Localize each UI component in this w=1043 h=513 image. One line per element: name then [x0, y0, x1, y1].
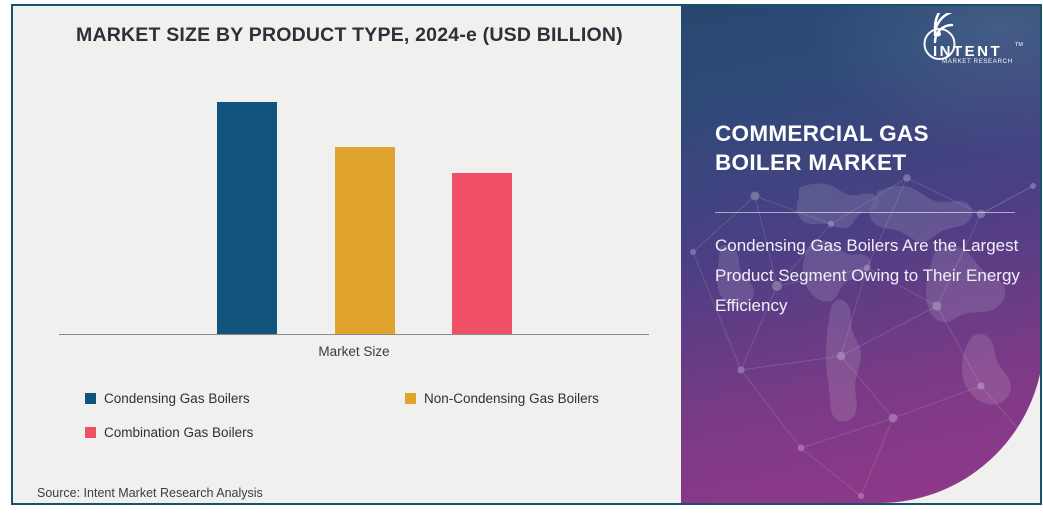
legend-label: Condensing Gas Boilers	[104, 391, 250, 406]
panel-title: COMMERCIAL GAS BOILER MARKET	[715, 119, 1015, 177]
panel-divider	[715, 212, 1015, 213]
source-note: Source: Intent Market Research Analysis	[37, 486, 263, 500]
infographic-canvas: MARKET SIZE BY PRODUCT TYPE, 2024-e (USD…	[0, 0, 1043, 513]
panel-subtitle: Condensing Gas Boilers Are the Largest P…	[715, 231, 1027, 321]
signal-arcs-icon: INTENT TM MARKET RESEARCH	[922, 13, 1026, 65]
logo-trademark: TM	[1015, 42, 1023, 48]
legend-row-1: Condensing Gas Boilers Non-Condensing Ga…	[85, 381, 665, 415]
bar-condensing-gas-boilers	[217, 102, 277, 334]
bar-combination-gas-boilers	[452, 173, 512, 334]
legend-swatch-icon	[85, 393, 96, 404]
chart-panel: MARKET SIZE BY PRODUCT TYPE, 2024-e (USD…	[13, 6, 681, 503]
brand-panel: INTENT TM MARKET RESEARCH COMMERCIAL GAS…	[681, 6, 1042, 503]
infographic-card: MARKET SIZE BY PRODUCT TYPE, 2024-e (USD…	[11, 4, 1042, 505]
chart-legend: Condensing Gas Boilers Non-Condensing Ga…	[85, 381, 665, 449]
x-axis-label: Market Size	[59, 344, 649, 359]
legend-swatch-icon	[405, 393, 416, 404]
bar-chart-plot	[59, 102, 649, 334]
legend-item-condensing-gas-boilers: Condensing Gas Boilers	[85, 391, 405, 406]
legend-label: Combination Gas Boilers	[104, 425, 253, 440]
legend-swatch-icon	[85, 427, 96, 438]
legend-item-combination-gas-boilers: Combination Gas Boilers	[85, 425, 405, 440]
legend-row-2: Combination Gas Boilers	[85, 415, 665, 449]
logo-wordmark: INTENT	[933, 43, 1002, 60]
logo-tagline: MARKET RESEARCH	[942, 58, 1013, 65]
legend-label: Non-Condensing Gas Boilers	[424, 391, 599, 406]
x-axis-line	[59, 334, 649, 335]
page-title: MARKET SIZE BY PRODUCT TYPE, 2024-e (USD…	[76, 24, 656, 47]
legend-item-non-condensing-gas-boilers: Non-Condensing Gas Boilers	[405, 391, 599, 406]
network-dots-graphic	[681, 156, 1042, 503]
bar-non-condensing-gas-boilers	[335, 147, 395, 334]
brand-logo: INTENT TM MARKET RESEARCH	[922, 13, 1026, 65]
